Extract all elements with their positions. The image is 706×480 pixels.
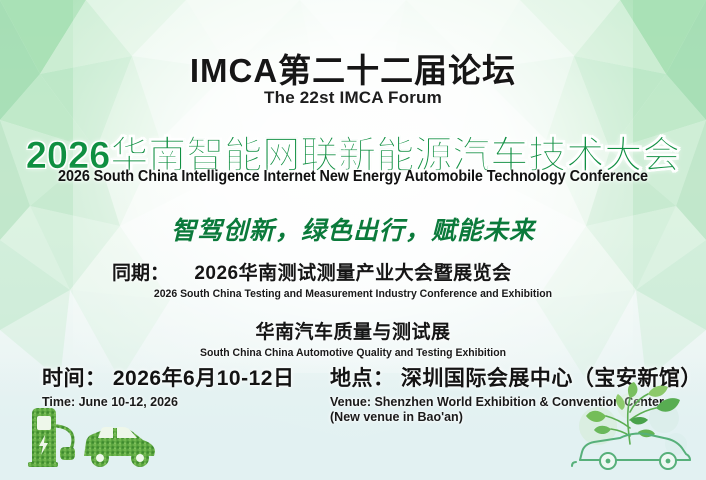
forum-title-cn: IMCA第二十二届论坛 xyxy=(0,44,706,92)
leaf-sprouting-car-icon xyxy=(564,382,700,478)
concurrent-event-2-cn: 华南汽车质量与测试展 xyxy=(0,317,706,344)
concurrent-event-row-2: 华南汽车质量与测试展 South China China Automotive … xyxy=(0,317,706,359)
event-time-cn: 时间： 2026年6月10-12日 xyxy=(42,362,294,392)
main-title-en: 2026 South China Intelligence Internet N… xyxy=(25,168,682,186)
concurrent-event-2-en: South China China Automotive Quality and… xyxy=(18,347,689,359)
concurrent-event-1-en: 2026 South China Testing and Measurement… xyxy=(18,288,689,300)
ev-charging-station-and-car-icon xyxy=(14,404,160,470)
concurrent-events: 同期： 2026华南测试测量产业大会暨展览会 2026 South China … xyxy=(0,258,706,359)
conference-poster: IMCA第二十二届论坛 The 22st IMCA Forum 2026华南智能… xyxy=(0,0,706,480)
concurrent-event-1-cn: 2026华南测试测量产业大会暨展览会 xyxy=(0,258,706,285)
forum-title-en: The 22st IMCA Forum xyxy=(0,88,706,108)
event-time-block: 时间： 2026年6月10-12日 Time: June 10-12, 2026 xyxy=(42,362,294,409)
concurrent-spacer xyxy=(0,300,706,317)
slogan: 智驾创新，绿色出行，赋能未来 xyxy=(0,211,706,247)
concurrent-event-row-1: 同期： 2026华南测试测量产业大会暨展览会 2026 South China … xyxy=(0,258,706,300)
concurrent-label: 同期： xyxy=(112,258,169,285)
